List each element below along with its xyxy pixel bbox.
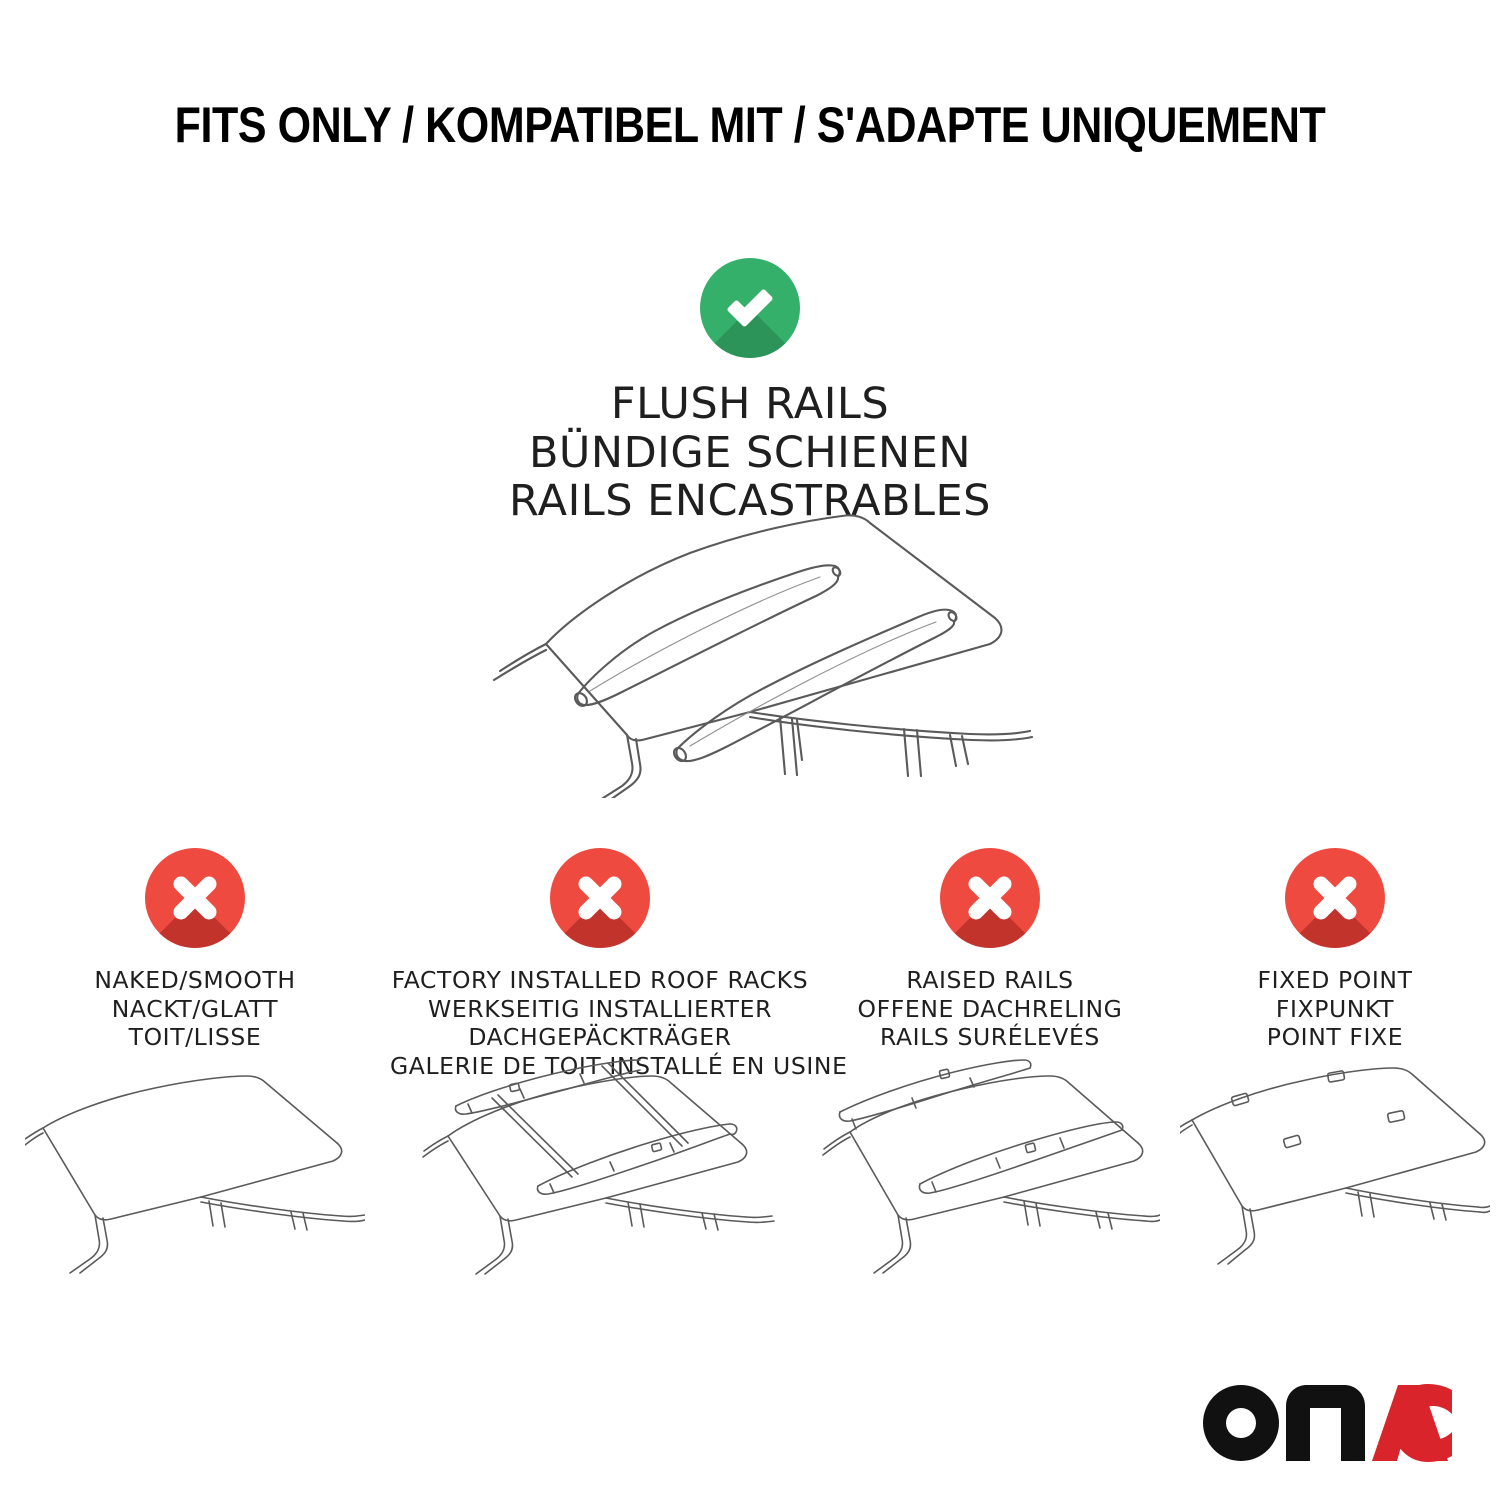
logo-letter-o — [1203, 1385, 1279, 1461]
flush-rails-roof-illustration — [0, 498, 1500, 803]
incompatible-label-line-fr: POINT FIXE — [1170, 1023, 1500, 1052]
incompatible-section: NAKED/SMOOTH NACKT/GLATT TOIT/LISSE — [0, 848, 1500, 1081]
incompatible-label-line-de: NACKT/GLATT — [0, 995, 390, 1024]
red-x-circle-icon — [1285, 848, 1385, 948]
incompatible-label-line-de-2: DACHGEPÄCKTRÄGER — [390, 1023, 810, 1052]
incompatible-label-line-fr: TOIT/LISSE — [0, 1023, 390, 1052]
incompatible-label-line-en: FIXED POINT — [1170, 966, 1500, 995]
omac-logo — [1202, 1384, 1452, 1462]
incompatible-illustrations-row — [0, 1058, 1500, 1293]
compatible-section: FLUSH RAILS BÜNDIGE SCHIENEN RAILS ENCAS… — [0, 258, 1500, 526]
incompatible-label-line-en: RAISED RAILS — [810, 966, 1170, 995]
incompatible-column-raised-rails: RAISED RAILS OFFENE DACHRELING RAILS SUR… — [810, 848, 1170, 1081]
factory-roof-rack-illustration — [390, 1058, 810, 1293]
icon-wrap — [0, 848, 390, 953]
icon-wrap — [1170, 848, 1500, 953]
incompatible-label-line-de: OFFENE DACHRELING — [810, 995, 1170, 1024]
raised-rails-roof-illustration — [810, 1058, 1170, 1293]
incompatible-label-line-de-1: WERKSEITIG INSTALLIERTER — [390, 995, 810, 1024]
naked-smooth-roof-illustration — [0, 1058, 390, 1293]
x-glyph — [1285, 848, 1385, 948]
incompatible-column-factory-roof-racks: FACTORY INSTALLED ROOF RACKS WERKSEITIG … — [390, 848, 810, 1081]
incompatible-column-fixed-point: FIXED POINT FIXPUNKT POINT FIXE — [1170, 848, 1500, 1081]
x-glyph — [940, 848, 1040, 948]
logo-letter-m — [1286, 1385, 1365, 1461]
check-glyph — [700, 258, 800, 358]
x-glyph — [550, 848, 650, 948]
incompatible-column-naked-smooth: NAKED/SMOOTH NACKT/GLATT TOIT/LISSE — [0, 848, 390, 1081]
incompatible-label-line-fr: RAILS SURÉLEVÉS — [810, 1023, 1170, 1052]
x-glyph — [145, 848, 245, 948]
icon-wrap — [810, 848, 1170, 953]
fitment-infographic: FITS ONLY / KOMPATIBEL MIT / S'ADAPTE UN… — [0, 0, 1500, 1500]
red-x-circle-icon — [940, 848, 1040, 948]
compatible-label-line-en: FLUSH RAILS — [0, 380, 1500, 429]
icon-wrap — [390, 848, 810, 953]
incompatible-label: NAKED/SMOOTH NACKT/GLATT TOIT/LISSE — [0, 966, 390, 1052]
incompatible-label: RAISED RAILS OFFENE DACHRELING RAILS SUR… — [810, 966, 1170, 1052]
green-check-circle-icon — [700, 258, 800, 358]
page-title: FITS ONLY / KOMPATIBEL MIT / S'ADAPTE UN… — [105, 96, 1395, 154]
incompatible-label-line-en: FACTORY INSTALLED ROOF RACKS — [390, 966, 810, 995]
fixed-point-roof-illustration — [1170, 1058, 1500, 1293]
incompatible-label-line-en: NAKED/SMOOTH — [0, 966, 390, 995]
red-x-circle-icon — [145, 848, 245, 948]
red-x-circle-icon — [550, 848, 650, 948]
incompatible-label: FIXED POINT FIXPUNKT POINT FIXE — [1170, 966, 1500, 1052]
compatible-label-line-de: BÜNDIGE SCHIENEN — [0, 429, 1500, 478]
incompatible-label-line-de: FIXPUNKT — [1170, 995, 1500, 1024]
